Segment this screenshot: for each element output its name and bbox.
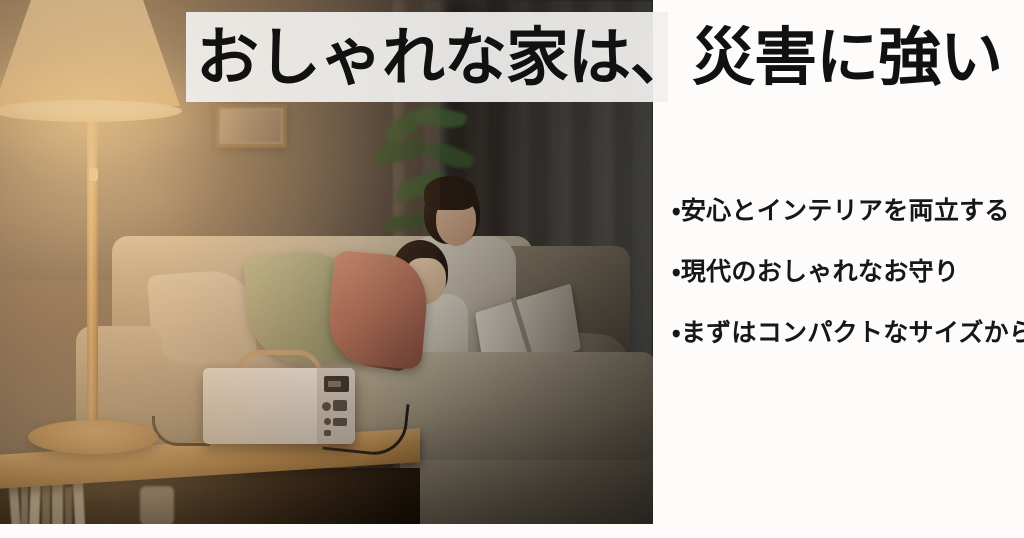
bullet-marker-1: ・ (672, 196, 681, 225)
slide-root: おしゃれな家は、災害に強い ・安心とインテリアを両立する ・現代のおしゃれなお守… (0, 0, 1024, 538)
mother-hair-front (424, 176, 476, 210)
bullet-text-1: 安心とインテリアを両立する (681, 196, 1010, 225)
lamp-pull-cord (92, 130, 95, 170)
bullet-item-2: ・現代のおしゃれなお守り (672, 259, 1024, 284)
portable-power-station (203, 368, 355, 444)
page-title: おしゃれな家は、災害に強い (196, 11, 1024, 103)
bullet-text-3: まずはコンパクトなサイズから (681, 318, 1024, 347)
power-station-panel (317, 368, 355, 444)
bullet-list: ・安心とインテリアを両立する ・現代のおしゃれなお守り ・まずはコンパクトなサイ… (672, 198, 1024, 345)
lamp-base (28, 420, 158, 454)
bullet-marker-2: ・ (672, 257, 681, 286)
lamp-shade-rim (0, 100, 182, 122)
shelf-vase (140, 486, 174, 524)
lamp-pull-knob (89, 168, 98, 181)
bullet-item-3: ・まずはコンパクトなサイズから (672, 320, 1024, 345)
bullet-text-2: 現代のおしゃれなお守り (681, 257, 959, 286)
power-station-display (324, 376, 349, 392)
bullet-item-1: ・安心とインテリアを両立する (672, 198, 1024, 223)
bullet-marker-3: ・ (672, 318, 681, 347)
picture-frame (215, 104, 287, 148)
cushion-beige (147, 268, 257, 367)
